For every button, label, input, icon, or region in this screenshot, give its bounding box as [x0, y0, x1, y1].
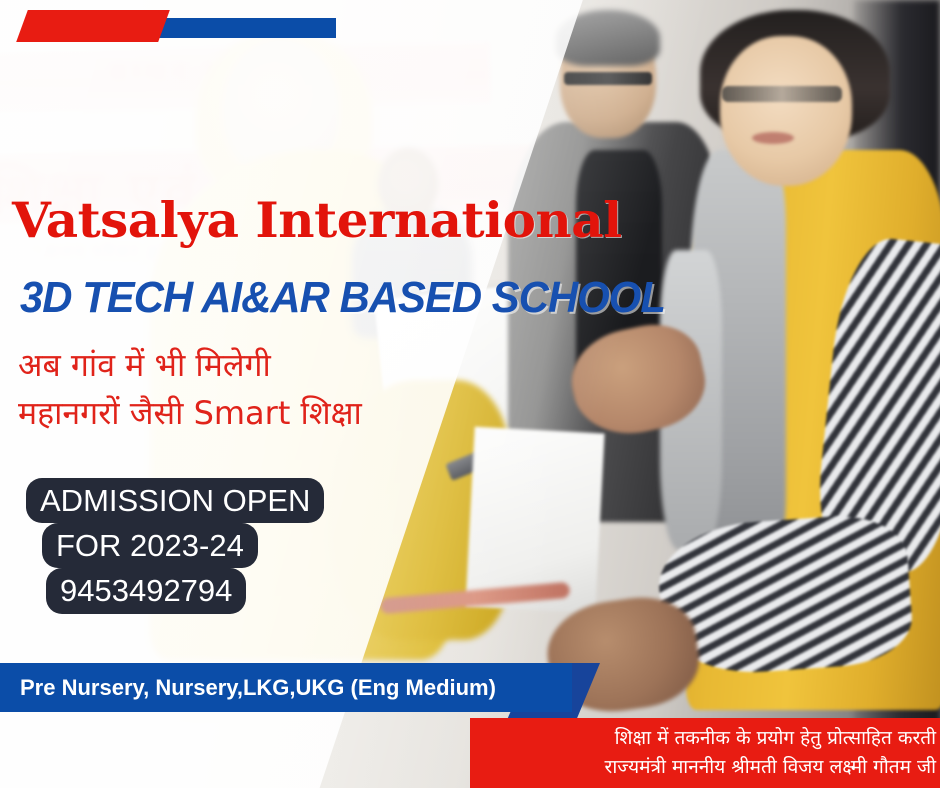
hindi-tagline-line-2: महानगरों जैसी Smart शिक्षा — [18, 396, 362, 431]
top-bar-red-shape — [16, 10, 170, 42]
caption-line-2: राज्यमंत्री माननीय श्रीमती विजय लक्ष्मी … — [605, 753, 936, 782]
admission-year-label: FOR 2023-24 — [42, 523, 258, 568]
admission-open-label: ADMISSION OPEN — [26, 478, 324, 523]
course-banner: Pre Nursery, Nursery,LKG,UKG (Eng Medium… — [0, 663, 572, 712]
caption-line-1: शिक्षा में तकनीक के प्रयोग हेतु प्रोत्सा… — [615, 724, 936, 753]
course-banner-label: Pre Nursery, Nursery,LKG,UKG (Eng Medium… — [0, 675, 496, 701]
admission-info-block: ADMISSION OPEN FOR 2023-24 9453492794 — [20, 478, 330, 614]
top-decorative-bar — [0, 0, 940, 60]
school-name-title: Vatsalya International — [12, 196, 622, 245]
photo-caption-box: शिक्षा में तकनीक के प्रयोग हेतु प्रोत्सा… — [470, 718, 940, 788]
school-tagline-subtitle: 3D TECH AI&AR BASED SCHOOL — [20, 276, 665, 320]
hindi-tagline-line-1: अब गांव में भी मिलेगी — [18, 348, 271, 383]
poster: सम्मान समारोह शिक्षा एवं कर्मठ विद्यालय … — [0, 0, 940, 788]
admission-phone-number[interactable]: 9453492794 — [46, 568, 246, 613]
